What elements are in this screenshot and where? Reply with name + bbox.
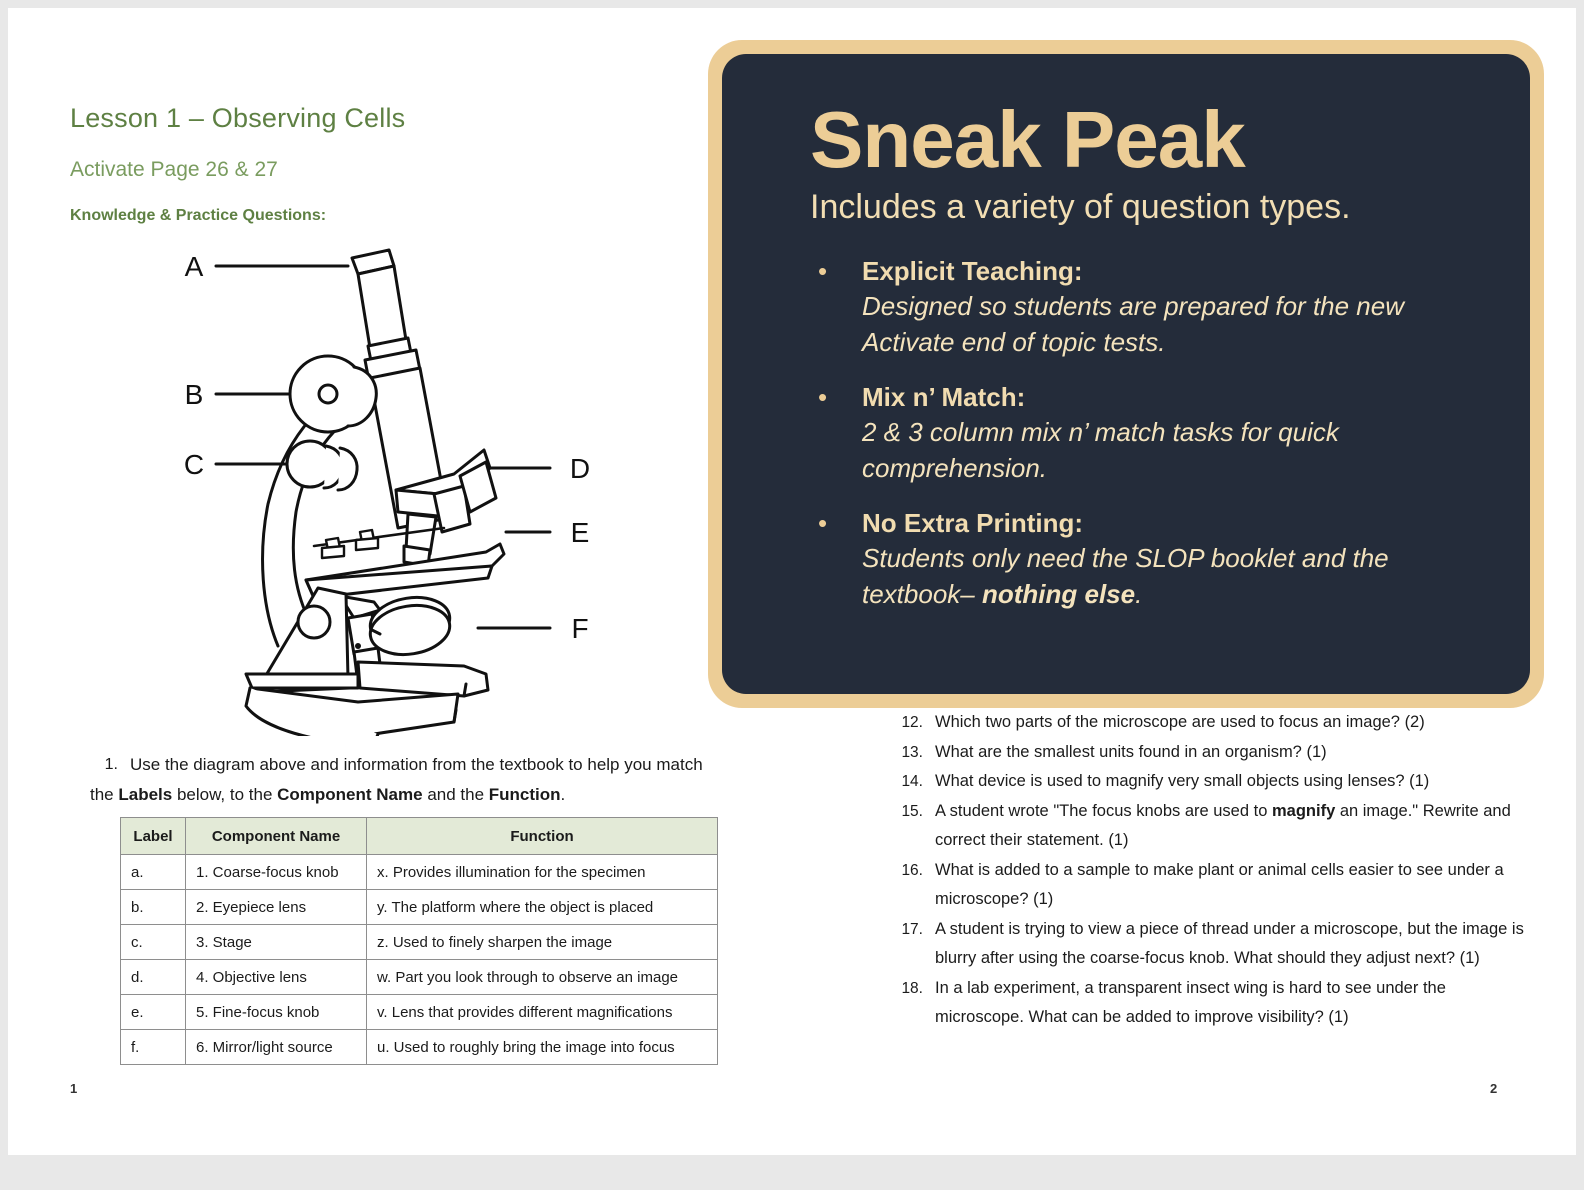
cell-label[interactable]: a. [121,855,186,890]
list-item: • Mix n’ Match: 2 & 3 column mix n’ matc… [810,380,1472,486]
label-f: F [571,613,588,644]
feature-heading: No Extra Printing: [862,506,1472,540]
microscope-diagram: A B C D E F [158,236,628,736]
label-a: A [185,251,204,282]
sneak-peak-panel: Sneak Peak Includes a variety of questio… [708,40,1544,708]
feature-heading: Explicit Teaching: [862,254,1472,288]
table-row: b. 2. Eyepiece lens y. The platform wher… [121,890,718,925]
list-item: 17. A student is trying to view a piece … [895,915,1525,974]
question-text: In a lab experiment, a transparent insec… [935,979,1446,1027]
cell-component: 3. Stage [186,925,367,960]
column-header-component-name: Component Name [186,818,367,855]
question-list: 12. Which two parts of the microscope ar… [895,708,1525,1033]
feature-heading-text: No Extra Printing [862,508,1074,538]
matching-table-body: a. 1. Coarse-focus knob x. Provides illu… [121,855,718,1065]
list-item: 18. In a lab experiment, a transparent i… [895,974,1525,1033]
column-header-label: Label [121,818,186,855]
question-text: Which two parts of the microscope are us… [935,713,1425,731]
cell-component: 6. Mirror/light source [186,1030,367,1065]
cell-label[interactable]: c. [121,925,186,960]
question-number: 17. [895,915,923,945]
question-text: A student wrote "The focus knobs are use… [935,802,1511,850]
matching-table: Label Component Name Function a. 1. Coar… [120,817,718,1065]
question-text: A student is trying to view a piece of t… [935,920,1524,968]
feature-heading-colon: : [1017,382,1026,412]
cell-function: y. The platform where the object is plac… [367,890,718,925]
question-text: What are the smallest units found in an … [935,743,1327,761]
matching-table-head: Label Component Name Function [121,818,718,855]
question-1-part-2: below, to the [172,785,277,804]
cell-label[interactable]: e. [121,995,186,1030]
screenshot-canvas: Lesson 1 – Observing Cells Activate Page… [0,0,1584,1190]
sneak-peak-feature-list: • Explicit Teaching: Designed so student… [810,254,1472,612]
question-number: 14. [895,767,923,797]
table-row: f. 6. Mirror/light source u. Used to rou… [121,1030,718,1065]
cell-component: 1. Coarse-focus knob [186,855,367,890]
cell-function: z. Used to finely sharpen the image [367,925,718,960]
question-text: What device is used to magnify very smal… [935,772,1429,790]
feature-body-post: . [1135,579,1142,609]
cell-function: x. Provides illumination for the specime… [367,855,718,890]
label-c: C [184,449,204,480]
question-number: 12. [895,708,923,738]
list-item: 14. What device is used to magnify very … [895,767,1525,797]
feature-heading-text: Mix n’ Match [862,382,1017,412]
question-text-bold: magnify [1272,802,1335,820]
question-1-part-4: . [561,785,566,804]
question-1: 1. Use the diagram above and information… [90,750,710,810]
question-1-bold-labels: Labels [118,785,172,804]
page-number-right: 2 [1490,1081,1497,1096]
cell-component: 4. Objective lens [186,960,367,995]
activate-page-reference: Activate Page 26 & 27 [70,158,278,182]
question-1-bold-component-name: Component Name [277,785,422,804]
question-1-bold-function: Function [489,785,561,804]
cell-component: 2. Eyepiece lens [186,890,367,925]
document-sheet: Lesson 1 – Observing Cells Activate Page… [8,8,1576,1155]
feature-heading: Mix n’ Match: [862,380,1472,414]
question-number: 13. [895,738,923,768]
left-page: Lesson 1 – Observing Cells Activate Page… [8,8,792,1155]
list-item: • Explicit Teaching: Designed so student… [810,254,1472,360]
coarse-focus-knob [290,356,376,432]
cell-label[interactable]: b. [121,890,186,925]
question-1-part-3: and the [423,785,489,804]
sneak-peak-title: Sneak Peak [810,96,1472,184]
feature-heading-colon: : [1074,256,1083,286]
label-d: D [570,453,590,484]
lesson-title: Lesson 1 – Observing Cells [70,103,405,134]
mirror-light-source [367,592,454,660]
bullet-icon: • [818,382,827,412]
list-item: 13. What are the smallest units found in… [895,738,1525,768]
fine-focus-knob [287,441,357,490]
table-row: e. 5. Fine-focus knob v. Lens that provi… [121,995,718,1030]
cell-component: 5. Fine-focus knob [186,995,367,1030]
feature-heading-text: Explicit Teaching [862,256,1074,286]
cell-function: u. Used to roughly bring the image into … [367,1030,718,1065]
sneak-peak-panel-inner: Sneak Peak Includes a variety of questio… [722,54,1530,694]
table-header-row: Label Component Name Function [121,818,718,855]
page-number-left: 1 [70,1081,77,1096]
eyepiece-tube [352,250,412,366]
feature-body: Students only need the SLOP booklet and … [862,540,1472,612]
microscope-drawing-svg: A B C D E F [158,236,628,736]
knowledge-practice-heading: Knowledge & Practice Questions: [70,207,326,225]
question-text: What is added to a sample to make plant … [935,861,1504,909]
cell-label[interactable]: f. [121,1030,186,1065]
question-text-pre: A student wrote "The focus knobs are use… [935,802,1272,820]
feature-heading-colon: : [1074,508,1083,538]
list-item: 12. Which two parts of the microscope ar… [895,708,1525,738]
feature-body: Designed so students are prepared for th… [862,288,1472,360]
feature-body-emphasis: nothing else [982,579,1135,609]
question-number: 16. [895,856,923,886]
list-item: 16. What is added to a sample to make pl… [895,856,1525,915]
microscope-base [246,662,488,736]
question-1-text: Use the diagram above and information fr… [90,755,703,804]
bullet-icon: • [818,508,827,538]
table-row: a. 1. Coarse-focus knob x. Provides illu… [121,855,718,890]
cell-function: v. Lens that provides different magnific… [367,995,718,1030]
question-1-number: 1. [90,750,118,780]
table-row: d. 4. Objective lens w. Part you look th… [121,960,718,995]
cell-function: w. Part you look through to observe an i… [367,960,718,995]
question-number: 15. [895,797,923,827]
list-item: 15. A student wrote "The focus knobs are… [895,797,1525,856]
cell-label[interactable]: d. [121,960,186,995]
label-e: E [571,517,590,548]
column-header-function: Function [367,818,718,855]
question-number: 18. [895,974,923,1004]
label-b: B [185,379,204,410]
list-item: • No Extra Printing: Students only need … [810,506,1472,612]
table-row: c. 3. Stage z. Used to finely sharpen th… [121,925,718,960]
sneak-peak-subtitle: Includes a variety of question types. [810,186,1472,228]
bullet-icon: • [818,256,827,286]
feature-body: 2 & 3 column mix n’ match tasks for quic… [862,414,1472,486]
